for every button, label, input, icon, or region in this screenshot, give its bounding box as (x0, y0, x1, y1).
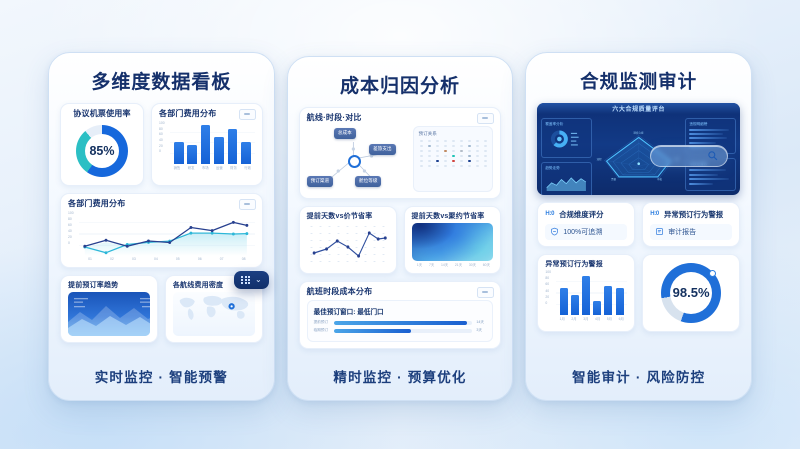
panel-compliance-audit: 合规监测审计 六大合规质量评台 覆盖率分析 (525, 52, 752, 401)
bar-x-axis: 销售研发市场运营财务行政 (159, 165, 255, 170)
network-node-2[interactable]: 预订渠道 (307, 176, 333, 187)
matrix-dots (418, 140, 488, 168)
panel-1-body: 协议机票使用率 85% 各部门费用分布 100806040200 (60, 103, 263, 343)
dropdown-chip-network[interactable] (477, 113, 494, 124)
dashboard-box-label: 趋势走势 (545, 166, 588, 171)
dashboard-box-coverage[interactable]: 覆盖率分析 (541, 118, 592, 158)
dropdown-chip-flightbars[interactable] (477, 287, 494, 298)
best-window-subtitle: 最佳预订窗口: 最低门口 (314, 306, 487, 316)
network-node-1[interactable]: 差旅支出 (369, 144, 395, 155)
bar-series (172, 122, 253, 164)
kpi-badge: H:0 (650, 211, 659, 217)
card-title-scatter: 提前天数vs价节省率 (307, 213, 389, 221)
panel-footer-1: 实时监控 · 智能预警 (60, 358, 263, 392)
card-route-time-comparison[interactable]: 航线·时段·对比 (299, 107, 502, 199)
card-expense-trend-line[interactable]: 各部门费用分布 100806040200 (60, 193, 263, 268)
alert-bar-plot: 100806040200 (545, 271, 627, 315)
trend-artwork (68, 292, 150, 336)
kpi-sub: 审计报告 (668, 227, 696, 237)
dashboard-title: 六大合规质量评台 (612, 104, 665, 113)
svg-text:制度合规: 制度合规 (633, 130, 643, 134)
dot-matrix-panel[interactable]: 预订关系 (413, 126, 493, 192)
heat-x-axis: 1天7天14天21天30天60天 (412, 262, 494, 267)
card-booking-trend[interactable]: 提前预订率趋势 (60, 275, 158, 344)
panel-footer-2: 精时监控 · 预算优化 (299, 358, 502, 392)
panel-cost-attribution: 成本归因分析 航线·时段·对比 (287, 56, 514, 401)
row-donut-bar: 协议机票使用率 85% 各部门费用分布 100806040200 (60, 103, 263, 186)
card-title-heat: 提前天数vs聚约节省率 (412, 213, 494, 221)
line-plot: 100806040200 (68, 212, 255, 256)
kpi-header: H:0 异常预订行为警报 (650, 209, 732, 220)
bar-y-axis: 100806040200 (159, 122, 168, 154)
card-title-network: 航线·时段·对比 (307, 114, 494, 123)
network-node-0[interactable]: 总成本 (334, 128, 356, 139)
kpi-sub-row: 审计报告 (650, 224, 732, 240)
dashboard-box-trend[interactable]: 趋势走势 (541, 162, 592, 195)
panel-3-body: 六大合规质量评台 覆盖率分析 (537, 103, 740, 332)
world-map-icon (173, 292, 255, 323)
dropdown-chip-line[interactable] (239, 199, 256, 210)
world-map-artwork (173, 292, 255, 336)
line-series (79, 212, 253, 256)
panel-stage: 多维度数据看板 协议机票使用率 85% 各部门费用分布 100806040200 (0, 0, 800, 449)
report-icon (655, 227, 664, 236)
network-node-3[interactable]: 舱位等级 (355, 176, 381, 187)
grid-icon (241, 276, 250, 285)
mini-donut-icon (545, 129, 588, 149)
progress-track (334, 329, 473, 333)
network-graph: 总成本 差旅支出 预订渠道 舱位等级 (307, 126, 408, 192)
chevron-down-icon: ⌄ (255, 276, 262, 284)
bar-plot: 100806040200 (159, 122, 255, 164)
scatter-line (307, 223, 389, 267)
shield-icon (550, 227, 559, 236)
progress-value: 14天 (476, 320, 486, 325)
progress-label: 提前预订 (314, 320, 330, 325)
kpi-title: 合规维度评分 (559, 209, 603, 220)
card-title-alertbar: 异常预订行为警报 (545, 261, 627, 269)
donut-chart: 85% (76, 125, 128, 177)
dropdown-chip-bar[interactable] (239, 109, 256, 120)
best-window-box: 最佳预订窗口: 最低门口 提前预订 14天 临期预订 3天 (307, 300, 494, 342)
svg-text:票据: 票据 (611, 177, 616, 181)
mini-area-chart (545, 173, 588, 191)
donut-value: 85% (76, 125, 128, 177)
progress-value: 3天 (476, 328, 486, 333)
dashboard-header: 六大合规质量评台 (537, 103, 740, 114)
progress-track (334, 321, 473, 325)
card-advance-days-heat[interactable]: 提前天数vs聚约节省率 1天7天14天21天30天60天 (404, 206, 502, 275)
alert-y-axis: 100806040200 (545, 271, 554, 305)
card-kpi-abnormal-alert[interactable]: H:0 异常预订行为警报 审计报告 (642, 202, 740, 247)
alert-bar-series (558, 271, 625, 315)
dashboard-left-column: 覆盖率分析 趋势走势 (541, 118, 592, 191)
dashboard-box-label: 覆盖率分析 (545, 122, 588, 127)
trend-wave (68, 292, 150, 336)
row-alert-gauge: 异常预订行为警报 100806040200 1月2月3月4月5月6月 (537, 254, 740, 332)
card-title-flightbars: 航班时段成本分布 (307, 288, 494, 297)
panel-footer-3: 智能审计 · 风险防控 (537, 358, 740, 392)
network-hub-node (348, 155, 361, 168)
card-agreement-ticket-usage[interactable]: 协议机票使用率 85% (60, 103, 144, 186)
svg-text:审批: 审批 (657, 177, 662, 181)
panel-2-body: 航线·时段·对比 (299, 107, 502, 349)
card-title-donut: 协议机票使用率 (73, 110, 130, 119)
row-advance-days: 提前天数vs价节省率 提前天数 (299, 206, 502, 275)
panel-title-1: 多维度数据看板 (60, 73, 263, 92)
search-pill[interactable] (650, 145, 728, 167)
card-compliance-gauge[interactable]: 98.5% (642, 254, 740, 332)
heatmap-artwork (412, 223, 494, 261)
progress-row: 临期预订 3天 (314, 328, 487, 333)
card-flight-time-cost[interactable]: 航班时段成本分布 最佳预订窗口: 最低门口 提前预订 14天 临期预订 3天 (299, 281, 502, 349)
card-title-trend: 提前预订率趋势 (68, 282, 150, 290)
card-advance-days-scatter[interactable]: 提前天数vs价节省率 (299, 206, 397, 275)
line-y-axis: 100806040200 (68, 212, 77, 246)
card-title-line: 各部门费用分布 (68, 200, 255, 209)
row-kpi: H:0 合规维度评分 100%可追溯 (537, 202, 740, 247)
grid-view-toggle[interactable]: ⌄ (234, 271, 268, 290)
gauge-donut: 98.5% (661, 263, 721, 323)
panel-title-2: 成本归因分析 (299, 77, 502, 96)
alert-x-axis: 1月2月3月4月5月6月 (545, 316, 627, 321)
row-mini-cards: 提前预订率趋势 各航线费用 (60, 275, 263, 344)
scatter-plot (307, 223, 389, 267)
dashboard-box-label: 违规明细榜 (689, 122, 732, 127)
compliance-dashboard-screen[interactable]: 六大合规质量评台 覆盖率分析 (537, 103, 740, 195)
card-department-expense-bar[interactable]: 各部门费用分布 100806040200 销售研发市场运营财务行政 (151, 103, 263, 186)
card-alert-bar-chart[interactable]: 异常预订行为警报 100806040200 1月2月3月4月5月6月 (537, 254, 635, 332)
line-x-axis: 0102030405060708 (68, 257, 255, 261)
svg-text:流程: 流程 (597, 156, 602, 160)
kpi-title: 异常预订行为警报 (664, 209, 723, 220)
progress-row: 提前预订 14天 (314, 320, 487, 325)
kpi-sub-row: 100%可追溯 (545, 224, 627, 240)
kpi-sub: 100%可追溯 (563, 227, 602, 237)
kpi-header: H:0 合规维度评分 (545, 209, 627, 220)
matrix-title: 预订关系 (418, 131, 488, 137)
progress-label: 临期预订 (314, 328, 330, 333)
gauge-knob (709, 270, 716, 277)
search-icon (707, 150, 718, 161)
kpi-badge: H:0 (545, 211, 554, 217)
panel-dashboard: 多维度数据看板 协议机票使用率 85% 各部门费用分布 100806040200 (48, 52, 275, 401)
panel-title-3: 合规监测审计 (537, 73, 740, 92)
card-kpi-compliance-score[interactable]: H:0 合规维度评分 100%可追溯 (537, 202, 635, 247)
